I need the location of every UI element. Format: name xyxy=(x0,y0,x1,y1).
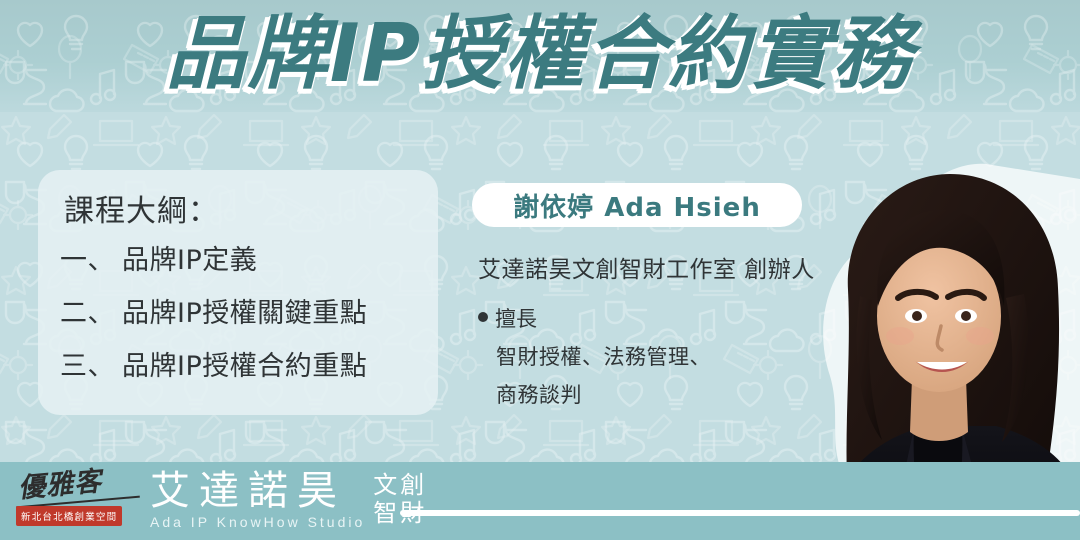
outline-item-label: 品牌IP授權合約重點 xyxy=(122,351,367,382)
outline-list: 一、品牌IP定義 二、品牌IP授權關鍵重點 三、品牌IP授權合約重點 xyxy=(60,238,426,397)
banner-canvas: 品牌IP授權合約實務 課程大綱： 一、品牌IP定義 二、品牌IP授權關鍵重點 三… xyxy=(0,0,1080,540)
outline-item-label: 品牌IP授權關鍵重點 xyxy=(122,298,367,329)
outline-item: 三、品牌IP授權合約重點 xyxy=(60,344,426,383)
outline-item-number: 三、 xyxy=(60,344,122,383)
skills-heading: 擅長 xyxy=(478,303,818,333)
logo-ada-studio: 艾達諾昊 Ada IP KnowHow Studio 文創 智財 xyxy=(150,470,427,532)
speaker-skills: 擅長 智財授權、法務管理、 商務談判 xyxy=(478,303,818,409)
outline-item: 一、品牌IP定義 xyxy=(60,238,426,277)
logo-ada-tagline: 文創 智財 xyxy=(373,472,427,527)
outline-item-number: 一、 xyxy=(60,238,122,277)
speaker-name-badge: 謝依婷 Ada Hsieh xyxy=(472,183,802,227)
speaker-role: 艾達諾昊文創智財工作室 創辦人 xyxy=(478,250,815,284)
footer-divider-line xyxy=(400,510,1080,516)
logo-youakeh: 優雅客 新北台北橋創業空間 xyxy=(14,470,144,532)
course-outline-panel: 課程大綱： 一、品牌IP定義 二、品牌IP授權關鍵重點 三、品牌IP授權合約重點 xyxy=(38,170,438,415)
logo-ada-name-en: Ada IP KnowHow Studio xyxy=(150,514,365,530)
outline-item-number: 二、 xyxy=(60,291,122,330)
outline-item-label: 品牌IP定義 xyxy=(122,245,257,276)
bullet-dot-icon xyxy=(478,312,488,322)
speaker-name: 謝依婷 Ada Hsieh xyxy=(513,187,761,224)
skills-label: 擅長 xyxy=(495,303,537,333)
skill-line: 智財授權、法務管理、 xyxy=(496,341,818,371)
logo-ada-tagline-line1: 文創 xyxy=(373,472,427,500)
outline-item: 二、品牌IP授權關鍵重點 xyxy=(60,291,426,330)
banner-title-area: 品牌IP授權合約實務 xyxy=(0,0,1080,110)
logo-ada-name-cn: 艾達諾昊 xyxy=(150,470,365,512)
outline-heading: 課程大綱： xyxy=(64,186,219,230)
skill-line: 商務談判 xyxy=(496,379,818,409)
logo-youakeh-badge: 新北台北橋創業空間 xyxy=(16,506,122,526)
page-title: 品牌IP授權合約實務 xyxy=(166,14,914,94)
